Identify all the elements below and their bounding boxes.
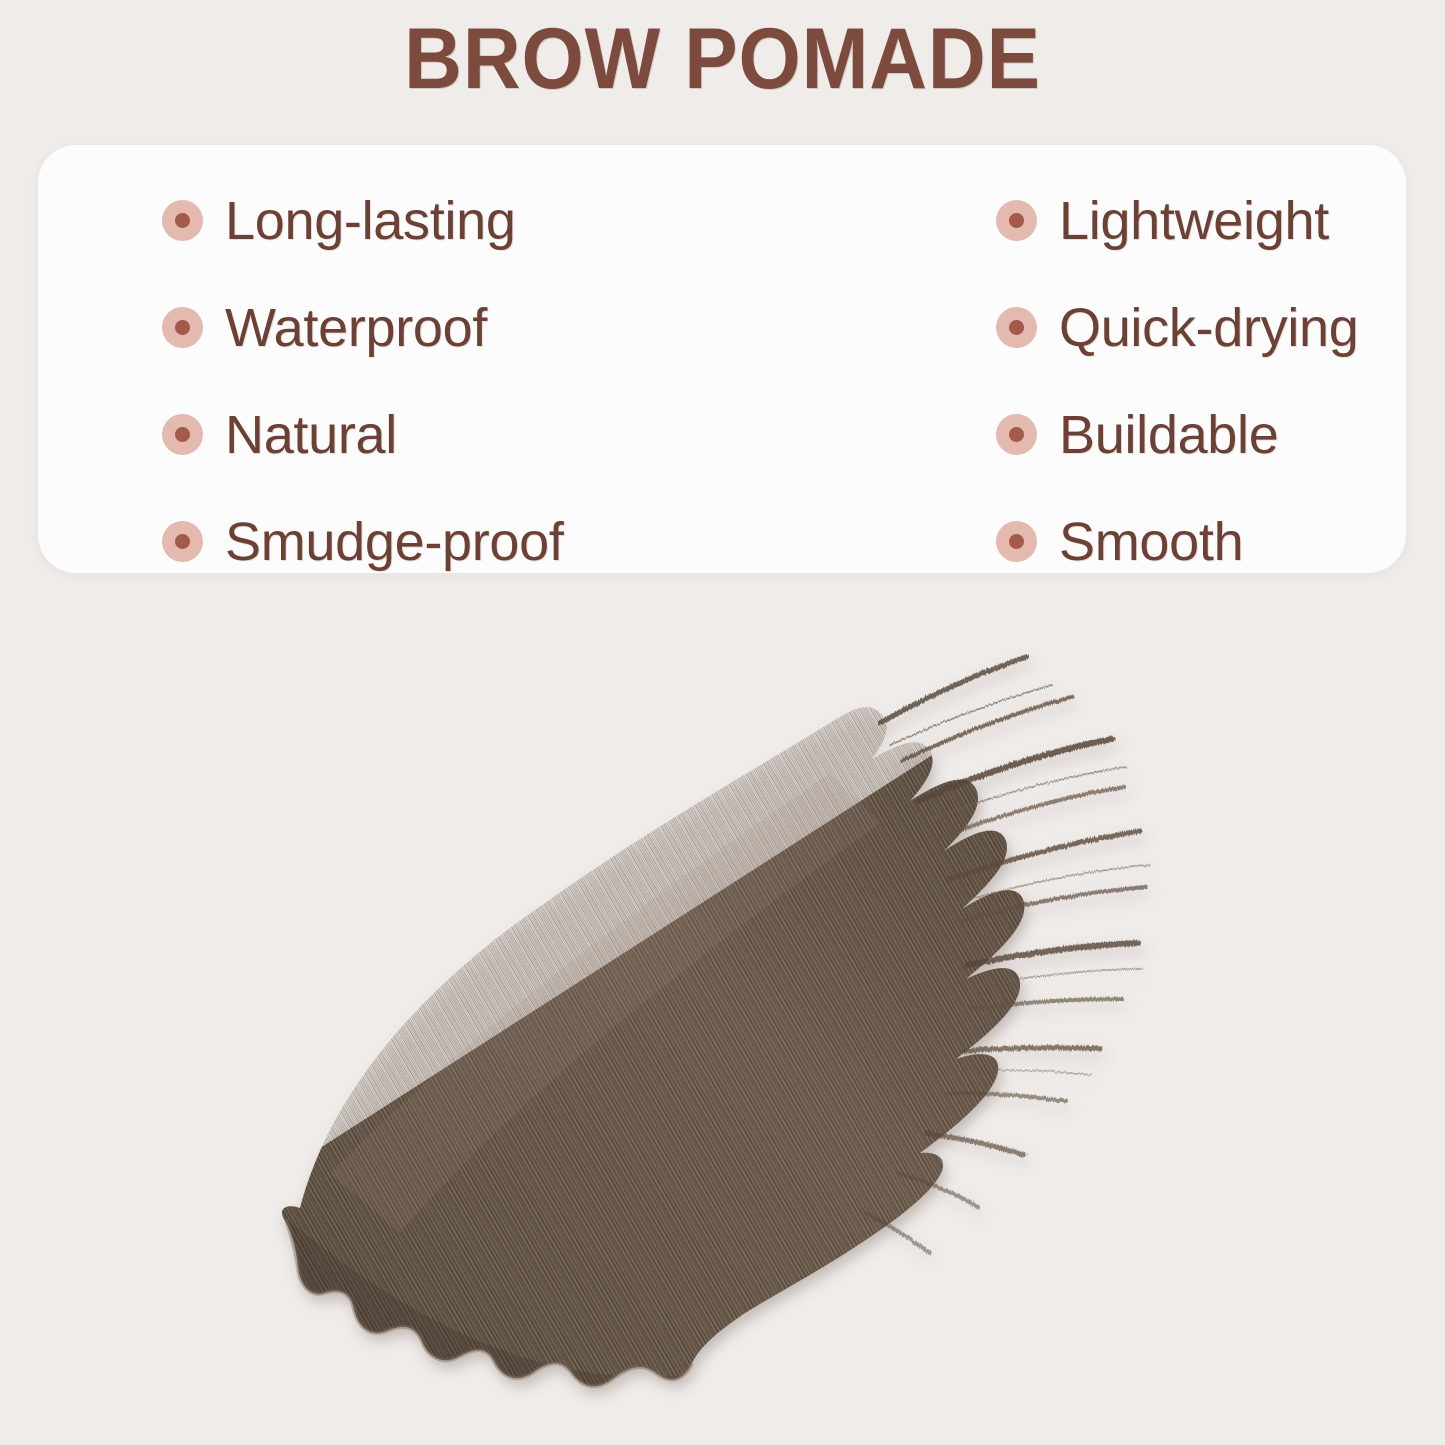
feature-item-smudge-proof: Smudge-proof [162,511,992,573]
feature-item-buildable: Buildable [992,404,1406,466]
feature-item-lightweight: Lightweight [992,190,1406,252]
feature-item-waterproof: Waterproof [162,297,992,359]
feature-item-quick-drying: Quick-drying [992,297,1406,359]
feature-card: Long-lasting Lightweight Waterproof Quic… [38,145,1406,573]
feature-item-long-lasting: Long-lasting [162,190,992,252]
bullet-dot-icon [996,414,1037,455]
bullet-dot-icon [162,414,203,455]
feature-label: Long-lasting [225,190,516,252]
feature-list: Long-lasting Lightweight Waterproof Quic… [38,163,1406,573]
bullet-dot-icon [162,521,203,562]
bullet-dot-icon [162,200,203,241]
product-swatch-area [0,573,1445,1445]
feature-label: Smudge-proof [225,511,564,573]
swatch-body [230,657,1150,1445]
feature-label: Waterproof [225,297,487,359]
page-title: BROW POMADE [51,14,1395,105]
feature-label: Quick-drying [1059,297,1359,359]
bullet-dot-icon [996,307,1037,348]
feature-label: Lightweight [1059,190,1329,252]
feature-label: Buildable [1059,404,1278,466]
bullet-dot-icon [162,307,203,348]
feature-item-smooth: Smooth [992,511,1406,573]
bullet-dot-icon [996,200,1037,241]
feature-label: Smooth [1059,511,1243,573]
bullet-dot-icon [996,521,1037,562]
brow-pomade-brushstroke-swatch [0,573,1445,1445]
feature-item-natural: Natural [162,404,992,466]
feature-label: Natural [225,404,397,466]
